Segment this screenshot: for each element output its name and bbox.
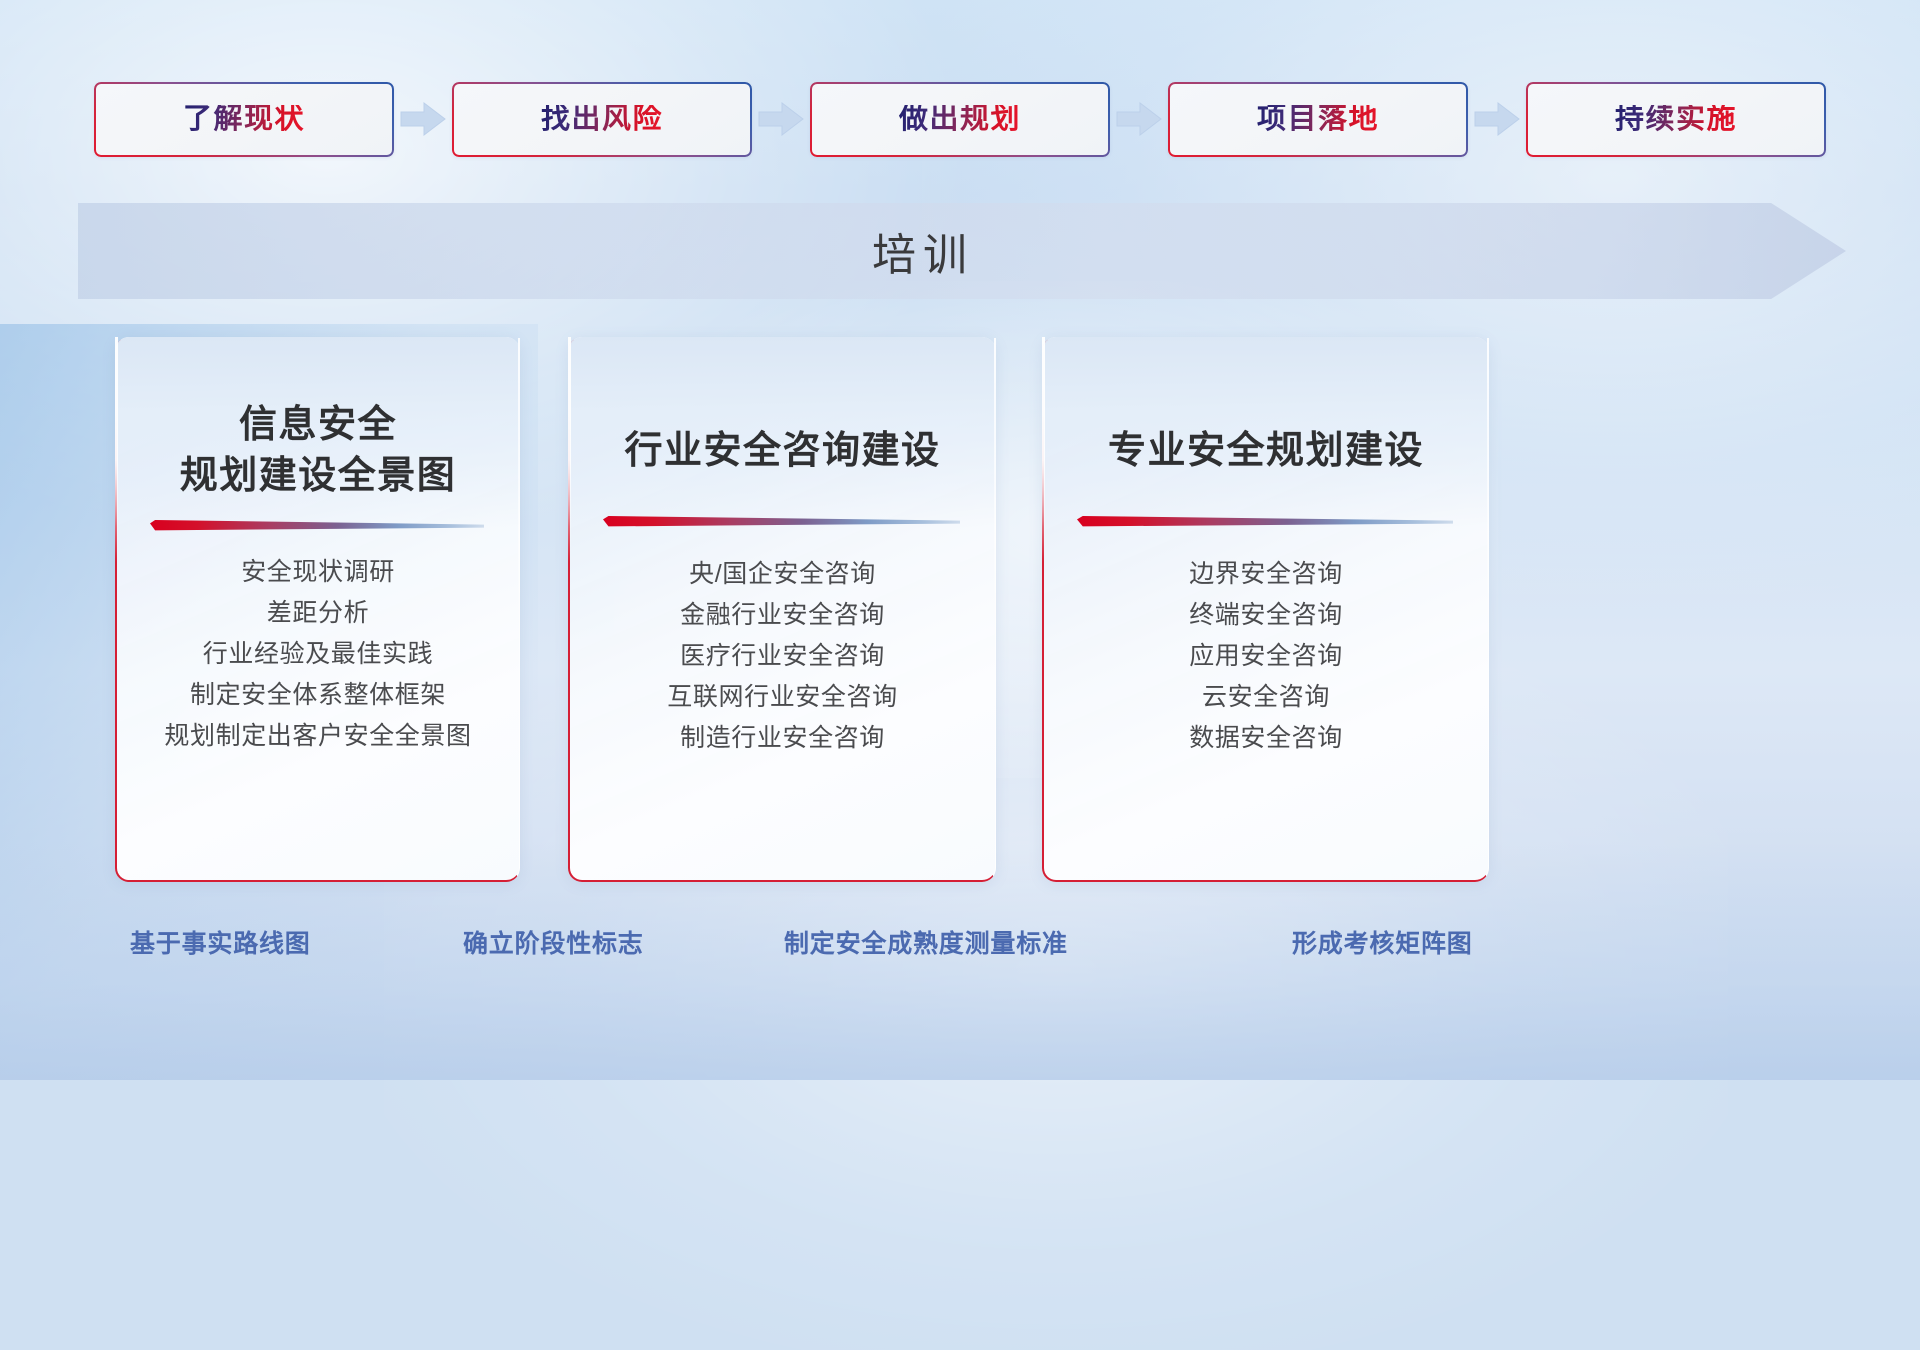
card-title-line: 信息安全 <box>239 404 397 446</box>
list-item[interactable]: 云安全咨询 <box>1202 677 1330 718</box>
step-box-5[interactable]: 持续实施 <box>1526 82 1826 157</box>
list-item[interactable]: 规划制定出客户安全全景图 <box>164 716 471 757</box>
step-box-4[interactable]: 项目落地 <box>1168 82 1468 157</box>
right-arrow-icon <box>1116 102 1162 136</box>
service-card-information-security-panorama[interactable]: 信息安全规划建设全景图 <box>115 337 520 882</box>
card-title: 专业安全规划建设 <box>1044 426 1488 477</box>
footnote-2: 确立阶段性标志 <box>463 920 644 968</box>
list-item[interactable]: 边界安全咨询 <box>1189 554 1343 595</box>
card-title: 行业安全咨询建设 <box>570 426 995 477</box>
list-item[interactable]: 制造行业安全咨询 <box>680 718 885 759</box>
tapered-gradient-divider <box>603 516 960 530</box>
banner-label: 培训 <box>78 203 1768 299</box>
card-item-list: 边界安全咨询终端安全咨询应用安全咨询云安全咨询数据安全咨询 <box>1044 554 1488 759</box>
step-label: 了解现状 <box>183 105 305 134</box>
tapered-gradient-divider <box>150 520 484 534</box>
step-arrow-2 <box>752 99 810 139</box>
list-item[interactable]: 差距分析 <box>267 593 369 634</box>
training-banner: 培训 <box>78 203 1846 299</box>
step-label: 做出规划 <box>899 105 1021 134</box>
tapered-gradient-divider <box>1077 516 1453 530</box>
footnote-4: 形成考核矩阵图 <box>1292 920 1473 968</box>
list-item[interactable]: 安全现状调研 <box>241 552 395 593</box>
list-item[interactable]: 行业经验及最佳实践 <box>203 634 433 675</box>
list-item[interactable]: 央/国企安全咨询 <box>689 554 876 595</box>
step-label: 项目落地 <box>1257 105 1379 134</box>
step-label: 找出风险 <box>541 105 663 134</box>
list-item[interactable]: 终端安全咨询 <box>1189 595 1343 636</box>
card-item-list: 安全现状调研差距分析行业经验及最佳实践制定安全体系整体框架规划制定出客户安全全景… <box>117 552 519 757</box>
list-item[interactable]: 互联网行业安全咨询 <box>667 677 897 718</box>
step-arrow-3 <box>1110 99 1168 139</box>
card-title-line: 专业安全规划建设 <box>1108 430 1424 472</box>
list-item[interactable]: 医疗行业安全咨询 <box>680 636 885 677</box>
footnote-row: 基于事实路线图确立阶段性标志制定安全成熟度测量标准形成考核矩阵图 <box>0 920 1920 968</box>
service-card-professional-security-planning[interactable]: 专业安全规划建设 <box>1042 337 1489 882</box>
right-arrow-icon <box>400 102 446 136</box>
card-title-line: 行业安全咨询建设 <box>624 430 940 472</box>
list-item[interactable]: 金融行业安全咨询 <box>680 595 885 636</box>
card-title-line: 规划建设全景图 <box>180 455 457 497</box>
right-arrow-icon <box>758 102 804 136</box>
step-label: 持续实施 <box>1615 105 1737 134</box>
right-arrow-icon <box>1474 102 1520 136</box>
step-arrow-1 <box>394 99 452 139</box>
step-arrow-4 <box>1468 99 1526 139</box>
step-box-3[interactable]: 做出规划 <box>810 82 1110 157</box>
list-item[interactable]: 数据安全咨询 <box>1189 718 1343 759</box>
step-box-1[interactable]: 了解现状 <box>94 82 394 157</box>
service-card-industry-security-consulting[interactable]: 行业安全咨询建设 <box>568 337 996 882</box>
footnote-3: 制定安全成熟度测量标准 <box>784 920 1068 968</box>
card-item-list: 央/国企安全咨询金融行业安全咨询医疗行业安全咨询互联网行业安全咨询制造行业安全咨… <box>570 554 995 759</box>
list-item[interactable]: 制定安全体系整体框架 <box>190 675 446 716</box>
service-card-group: 信息安全规划建设全景图 <box>0 337 1920 882</box>
step-box-2[interactable]: 找出风险 <box>452 82 752 157</box>
process-step-row: 了解现状 找出风险 做出规划 项目落地 持续实施 <box>0 79 1920 159</box>
footnote-1: 基于事实路线图 <box>130 920 311 968</box>
card-title: 信息安全规划建设全景图 <box>117 400 519 502</box>
list-item[interactable]: 应用安全咨询 <box>1189 636 1343 677</box>
